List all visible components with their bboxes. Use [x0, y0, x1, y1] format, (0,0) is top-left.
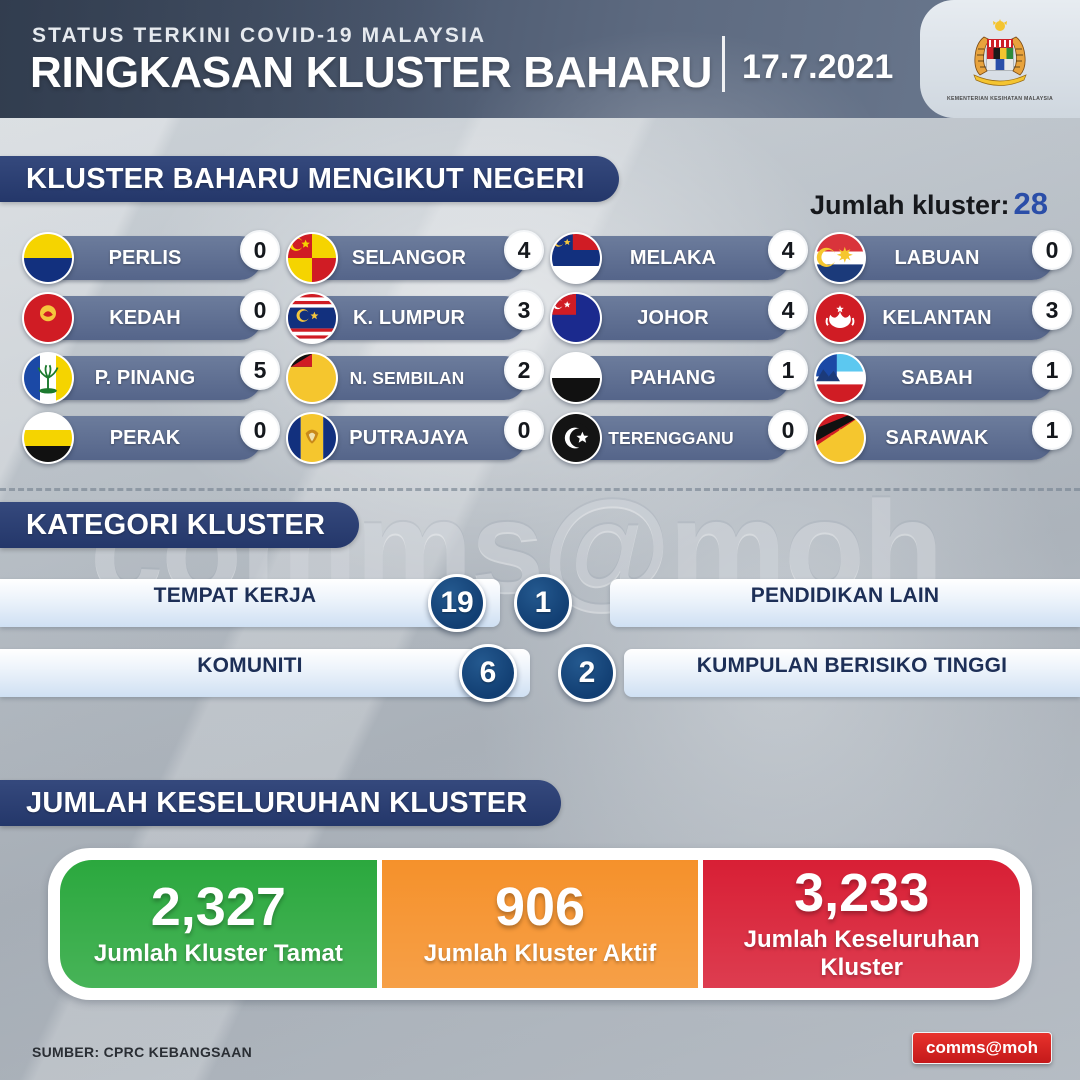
comms-moh-badge: comms@moh — [912, 1032, 1052, 1064]
malaysia-coat-of-arms-icon — [954, 17, 1046, 93]
state-value-n-sembilan: 2 — [504, 350, 544, 390]
negeri-sembilan-flag-icon — [286, 352, 338, 404]
crest-panel: KEMENTERIAN KESIHATAN MALAYSIA — [920, 0, 1080, 118]
state-cell-kelantan[interactable]: KELANTAN3 — [806, 288, 1070, 348]
perlis-flag-icon — [22, 232, 74, 284]
terengganu-flag-icon — [550, 412, 602, 464]
total-label-jumlah-kluster-tamat: Jumlah Kluster Tamat — [94, 940, 343, 968]
states-banner-label: KLUSTER BAHARU MENGIKUT NEGERI — [0, 163, 619, 196]
category-label-kumpulan-berisiko-tinggi: KUMPULAN BERISIKO TINGGI — [624, 642, 1080, 690]
total-value-jumlah-keseluruhan-kluster: 3,233 — [794, 866, 929, 920]
state-cell-melaka[interactable]: MELAKA4 — [542, 228, 806, 288]
pahang-flag-icon — [550, 352, 602, 404]
state-row: PERAK0PUTRAJAYA0TERENGGANU0SARAWAK1 — [14, 408, 1070, 468]
state-row: P. PINANG5N. SEMBILAN2PAHANG1SABAH1 — [14, 348, 1070, 408]
johor-flag-icon — [550, 292, 602, 344]
state-value-selangor: 4 — [504, 230, 544, 270]
selangor-flag-icon — [286, 232, 338, 284]
page-title: RINGKASAN KLUSTER BAHARU — [30, 48, 712, 98]
header-divider — [722, 36, 725, 92]
state-value-pahang: 1 — [768, 350, 808, 390]
category-label-pendidikan-lain: PENDIDIKAN LAIN — [610, 572, 1080, 620]
labuan-flag-icon — [814, 232, 866, 284]
kedah-flag-icon — [22, 292, 74, 344]
total-label-jumlah-kluster-aktif: Jumlah Kluster Aktif — [424, 940, 657, 968]
category-list: TEMPAT KERJA 19 PENDIDIKAN LAIN 1 KOMUNI… — [0, 572, 1080, 704]
total-cluster-label: Jumlah kluster: — [810, 190, 1010, 220]
category-row: KOMUNITI 6 KUMPULAN BERISIKO TINGGI 2 — [0, 642, 1080, 704]
state-value-sabah: 1 — [1032, 350, 1072, 390]
state-value-terengganu: 0 — [768, 410, 808, 450]
totals-section-banner: JUMLAH KESELURUHAN KLUSTER — [0, 780, 561, 826]
state-cell-kedah[interactable]: KEDAH0 — [14, 288, 278, 348]
category-value-tempat-kerja: 19 — [428, 574, 486, 632]
category-banner-label: KATEGORI KLUSTER — [0, 509, 359, 542]
total-cluster-summary: Jumlah kluster:28 — [810, 186, 1048, 222]
kuala-lumpur-flag-icon — [286, 292, 338, 344]
total-card-jumlah-keseluruhan-kluster: 3,233Jumlah Keseluruhan Kluster — [703, 860, 1020, 988]
pulau-pinang-flag-icon — [22, 352, 74, 404]
total-cluster-value: 28 — [1014, 186, 1048, 221]
category-value-komuniti: 6 — [459, 644, 517, 702]
state-cell-johor[interactable]: JOHOR4 — [542, 288, 806, 348]
category-value-pendidikan-lain: 1 — [514, 574, 572, 632]
state-cell-k-lumpur[interactable]: K. LUMPUR3 — [278, 288, 542, 348]
sabah-flag-icon — [814, 352, 866, 404]
state-value-p-pinang: 5 — [240, 350, 280, 390]
total-value-jumlah-kluster-tamat: 2,327 — [151, 880, 286, 934]
states-section-banner: KLUSTER BAHARU MENGIKUT NEGERI — [0, 156, 619, 202]
state-value-kedah: 0 — [240, 290, 280, 330]
state-cell-perak[interactable]: PERAK0 — [14, 408, 278, 468]
totals-banner-label: JUMLAH KESELURUHAN KLUSTER — [0, 787, 561, 820]
state-cell-perlis[interactable]: PERLIS0 — [14, 228, 278, 288]
state-value-perlis: 0 — [240, 230, 280, 270]
category-label-komuniti: KOMUNITI — [0, 642, 500, 690]
state-value-labuan: 0 — [1032, 230, 1072, 270]
state-cell-labuan[interactable]: LABUAN0 — [806, 228, 1070, 288]
total-label-jumlah-keseluruhan-kluster: Jumlah Keseluruhan Kluster — [703, 926, 1020, 981]
total-value-jumlah-kluster-aktif: 906 — [495, 880, 585, 934]
state-row: PERLIS0SELANGOR4MELAKA4LABUAN0 — [14, 228, 1070, 288]
state-cell-pahang[interactable]: PAHANG1 — [542, 348, 806, 408]
state-value-melaka: 4 — [768, 230, 808, 270]
report-date: 17.7.2021 — [742, 48, 893, 87]
kelantan-flag-icon — [814, 292, 866, 344]
state-value-sarawak: 1 — [1032, 410, 1072, 450]
section-divider — [0, 488, 1080, 491]
state-value-putrajaya: 0 — [504, 410, 544, 450]
category-value-kumpulan-berisiko-tinggi: 2 — [558, 644, 616, 702]
state-value-johor: 4 — [768, 290, 808, 330]
total-card-jumlah-kluster-aktif: 906Jumlah Kluster Aktif — [382, 860, 699, 988]
source-text: SUMBER: CPRC KEBANGSAAN — [32, 1044, 252, 1060]
state-cell-putrajaya[interactable]: PUTRAJAYA0 — [278, 408, 542, 468]
state-cell-n-sembilan[interactable]: N. SEMBILAN2 — [278, 348, 542, 408]
state-row: KEDAH0K. LUMPUR3JOHOR4KELANTAN3 — [14, 288, 1070, 348]
state-cell-selangor[interactable]: SELANGOR4 — [278, 228, 542, 288]
state-cell-terengganu[interactable]: TERENGGANU0 — [542, 408, 806, 468]
states-grid: PERLIS0SELANGOR4MELAKA4LABUAN0KEDAH0K. L… — [14, 228, 1070, 468]
page-header: STATUS TERKINI COVID-19 MALAYSIA RINGKAS… — [0, 0, 1080, 118]
melaka-flag-icon — [550, 232, 602, 284]
perak-flag-icon — [22, 412, 74, 464]
state-value-perak: 0 — [240, 410, 280, 450]
state-value-kelantan: 3 — [1032, 290, 1072, 330]
putrajaya-flag-icon — [286, 412, 338, 464]
totals-card-group: 2,327Jumlah Kluster Tamat906Jumlah Klust… — [48, 848, 1032, 1000]
state-value-k-lumpur: 3 — [504, 290, 544, 330]
state-cell-sabah[interactable]: SABAH1 — [806, 348, 1070, 408]
category-section-banner: KATEGORI KLUSTER — [0, 502, 359, 548]
header-kicker: STATUS TERKINI COVID-19 MALAYSIA — [32, 24, 486, 48]
crest-caption: KEMENTERIAN KESIHATAN MALAYSIA — [947, 96, 1053, 102]
sarawak-flag-icon — [814, 412, 866, 464]
state-cell-p-pinang[interactable]: P. PINANG5 — [14, 348, 278, 408]
state-cell-sarawak[interactable]: SARAWAK1 — [806, 408, 1070, 468]
category-row: TEMPAT KERJA 19 PENDIDIKAN LAIN 1 — [0, 572, 1080, 634]
total-card-jumlah-kluster-tamat: 2,327Jumlah Kluster Tamat — [60, 860, 377, 988]
category-label-tempat-kerja: TEMPAT KERJA — [0, 572, 470, 620]
